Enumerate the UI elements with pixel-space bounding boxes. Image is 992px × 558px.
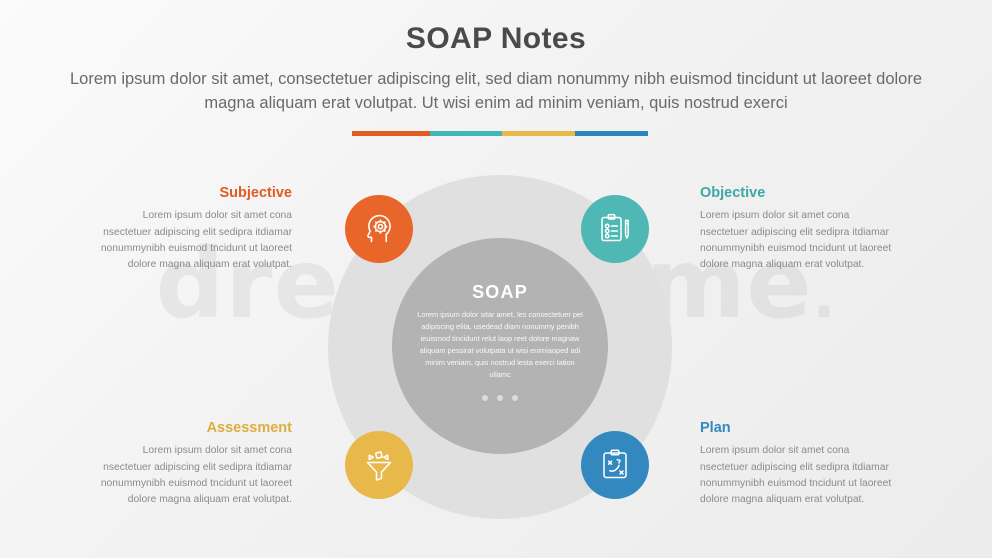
section-body-subjective: Lorem ipsum dolor sit amet cona nsectetu… (100, 208, 292, 273)
color-divider-bar (352, 131, 648, 136)
page-subtitle: Lorem ipsum dolor sit amet, consectetuer… (66, 68, 926, 116)
center-circle: SOAP Lorem ipsum dolor sitar amet, les c… (392, 238, 608, 454)
icon-circle-subjective[interactable] (345, 195, 413, 263)
section-title-subjective: Subjective (100, 185, 292, 202)
page-title: SOAP Notes (0, 22, 992, 56)
section-body-objective: Lorem ipsum dolor sit amet cona nsectetu… (700, 208, 892, 273)
section-objective: Objective Lorem ipsum dolor sit amet con… (700, 185, 892, 273)
section-assessment: Assessment Lorem ipsum dolor sit amet co… (100, 420, 292, 508)
section-title-objective: Objective (700, 185, 892, 202)
section-body-assessment: Lorem ipsum dolor sit amet cona nsectetu… (100, 443, 292, 508)
center-label: SOAP (472, 282, 528, 303)
divider-segment-orange (352, 131, 430, 136)
icon-circle-objective[interactable] (581, 195, 649, 263)
divider-segment-blue (575, 131, 648, 136)
head-gear-icon (360, 210, 398, 248)
divider-segment-gold (502, 131, 575, 136)
center-description: Lorem ipsum dolor sitar amet, les consec… (416, 309, 584, 381)
center-dot (482, 395, 488, 401)
center-dot (497, 395, 503, 401)
header: SOAP Notes Lorem ipsum dolor sit amet, c… (0, 22, 992, 116)
icon-circle-plan[interactable] (581, 431, 649, 499)
center-dot (512, 395, 518, 401)
section-subjective: Subjective Lorem ipsum dolor sit amet co… (100, 185, 292, 273)
funnel-filter-icon (360, 446, 398, 484)
clipboard-checklist-pencil-icon (596, 210, 634, 248)
center-dots (482, 395, 518, 401)
section-plan: Plan Lorem ipsum dolor sit amet cona nse… (700, 420, 892, 508)
section-body-plan: Lorem ipsum dolor sit amet cona nsectetu… (700, 443, 892, 508)
section-title-plan: Plan (700, 420, 892, 437)
section-title-assessment: Assessment (100, 420, 292, 437)
icon-circle-assessment[interactable] (345, 431, 413, 499)
strategy-clipboard-icon (596, 446, 634, 484)
divider-segment-teal (430, 131, 503, 136)
